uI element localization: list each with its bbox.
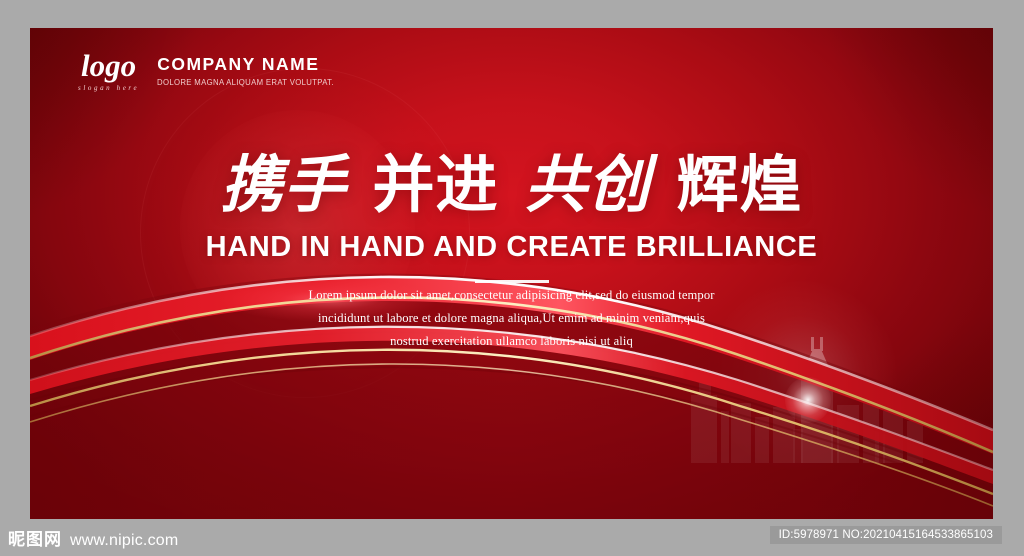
headline-part-1: 携手 — [220, 146, 346, 224]
logo-slogan: slogan here — [78, 84, 139, 92]
chinese-headline: 携手并进共创辉煌 — [30, 146, 993, 224]
logo-block: logo slogan here — [78, 50, 139, 92]
city-spark-light — [785, 377, 831, 423]
poster-canvas: logo slogan here COMPANY NAME DOLORE MAG… — [30, 28, 993, 519]
paragraph-line-3: nostrud exercitation ullamco laboris nis… — [30, 330, 993, 353]
watermark-site-url: www.nipic.com — [70, 532, 178, 550]
logo-wordmark: logo — [78, 51, 139, 81]
headline-divider — [475, 280, 549, 283]
title-block: 携手并进共创辉煌 HAND IN HAND AND CREATE BRILLIA… — [30, 146, 993, 283]
watermark-branding: 昵图网 www.nipic.com — [8, 531, 178, 550]
headline-part-3: 共创 — [525, 146, 651, 224]
headline-part-2: 并进 — [372, 146, 498, 224]
poster-header: logo slogan here COMPANY NAME DOLORE MAG… — [78, 50, 340, 92]
company-name: COMPANY NAME — [157, 54, 339, 74]
company-subtitle: DOLORE MAGNA ALIQUAM ERAT VOLUTPAT. — [157, 78, 334, 87]
english-headline: HAND IN HAND AND CREATE BRILLIANCE — [30, 231, 993, 264]
watermark-site-name-cn: 昵图网 — [8, 531, 62, 550]
company-block: COMPANY NAME DOLORE MAGNA ALIQUAM ERAT V… — [157, 50, 339, 87]
screenshot-stage: logo slogan here COMPANY NAME DOLORE MAG… — [0, 0, 1024, 556]
watermark-id-badge: ID:5978971 NO:20210415164533865103 — [770, 526, 1002, 544]
headline-part-4: 辉煌 — [677, 146, 803, 224]
paragraph-line-1: Lorem ipsum dolor sit amet,consectetur a… — [30, 284, 993, 307]
body-paragraph: Lorem ipsum dolor sit amet,consectetur a… — [30, 284, 993, 353]
paragraph-line-2: incididunt ut labore et dolore magna ali… — [30, 307, 993, 330]
